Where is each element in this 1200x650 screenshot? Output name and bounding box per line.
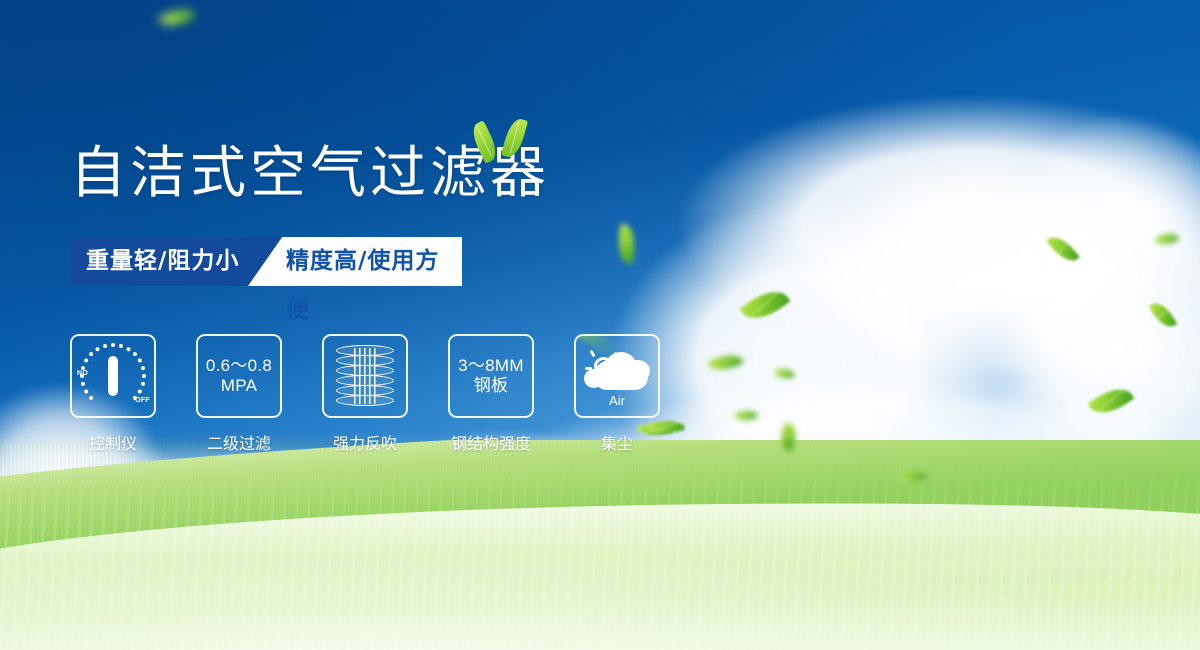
air-label: Air bbox=[582, 393, 652, 408]
sprout-leaf-left bbox=[468, 120, 501, 163]
product-banner: 自洁式空气过滤器 重量轻/阻力小 精度高/使用方便 bbox=[0, 0, 1200, 650]
feature-icon-box: 0.6～0.8 MPA bbox=[196, 334, 282, 418]
feature-icon-box: NO OFF bbox=[70, 334, 156, 418]
grass-highlight bbox=[0, 440, 1200, 650]
feature-caption: 控制仪 bbox=[89, 430, 137, 454]
sprout-leaf-right bbox=[501, 116, 528, 159]
feature-caption: 集尘 bbox=[601, 430, 633, 454]
cloud-body bbox=[594, 360, 648, 390]
feature-item-secondary-filter[interactable]: 0.6～0.8 MPA 二级过滤 bbox=[196, 334, 282, 454]
feature-item-dust-collection[interactable]: Air 集尘 bbox=[574, 334, 660, 454]
feature-icon-box: 3～8MM 钢板 bbox=[448, 334, 534, 418]
cloud-air-icon: Air bbox=[582, 344, 652, 404]
grass-field bbox=[0, 440, 1200, 650]
gauge-needle bbox=[108, 356, 118, 396]
gauge-label-off: OFF bbox=[135, 397, 150, 404]
pressure-line-2: MPA bbox=[206, 376, 272, 396]
steel-thickness-text-icon: 3～8MM 钢板 bbox=[458, 356, 524, 396]
pressure-text-icon: 0.6～0.8 MPA bbox=[206, 356, 272, 396]
steel-line-1: 3～8MM bbox=[458, 356, 524, 375]
feature-icon-box bbox=[322, 334, 408, 418]
gauge-label-on: NO bbox=[77, 370, 88, 377]
feature-icon-box: Air bbox=[574, 334, 660, 418]
feature-caption: 二级过滤 bbox=[207, 430, 271, 454]
feature-item-backblow[interactable]: 强力反吹 bbox=[322, 334, 408, 454]
subtitle-left-text: 重量轻/阻力小 bbox=[86, 237, 239, 286]
pressure-line-1: 0.6～0.8 bbox=[206, 356, 272, 375]
feature-caption: 钢结构强度 bbox=[451, 430, 531, 454]
sprout-leaves-decoration bbox=[470, 112, 540, 168]
feature-caption: 强力反吹 bbox=[333, 430, 397, 454]
subtitle-right-text: 精度高/使用方便 bbox=[286, 237, 462, 286]
feature-list: NO OFF 控制仪 0.6～0.8 MPA 二级过滤 bbox=[70, 334, 660, 454]
steel-line-2: 钢板 bbox=[458, 376, 524, 396]
filter-stack-icon bbox=[336, 345, 394, 407]
subtitle-bar: 重量轻/阻力小 精度高/使用方便 bbox=[70, 237, 462, 286]
feature-item-controller[interactable]: NO OFF 控制仪 bbox=[70, 334, 156, 454]
gauge-icon: NO OFF bbox=[78, 343, 148, 409]
feature-item-steel-strength[interactable]: 3～8MM 钢板 钢结构强度 bbox=[448, 334, 534, 454]
